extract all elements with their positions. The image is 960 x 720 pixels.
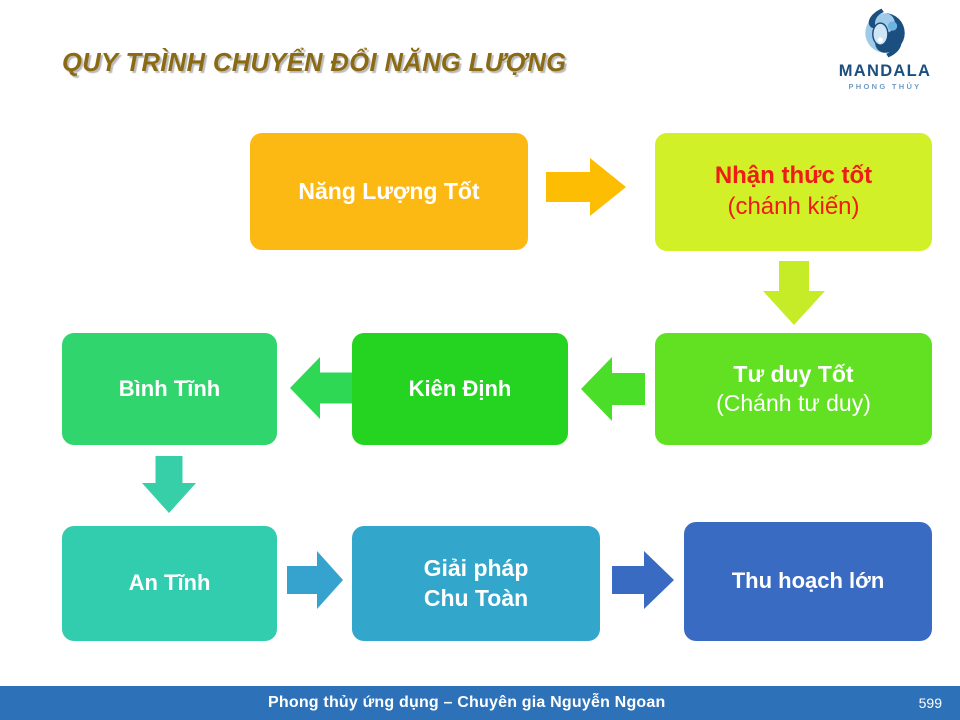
flow-node-tu-duy-tot[interactable]: Tư duy Tốt (Chánh tư duy) bbox=[655, 333, 932, 445]
flow-node-label: Năng Lượng Tốt bbox=[298, 177, 479, 206]
flow-node-label: An Tĩnh bbox=[129, 569, 211, 597]
slide-footer: Phong thủy ứng dụng – Chuyên gia Nguyễn … bbox=[0, 686, 960, 720]
arrow-shaft bbox=[156, 456, 183, 484]
flow-node-binh-tinh[interactable]: Bình Tĩnh bbox=[62, 333, 277, 445]
flow-node-sublabel: Chu Toàn bbox=[424, 584, 528, 613]
logo-tagline: PHONG THỦY bbox=[826, 83, 944, 91]
arrow-head bbox=[590, 158, 626, 216]
flow-node-sublabel: (chánh kiến) bbox=[727, 192, 859, 223]
arrow-shaft bbox=[546, 172, 591, 202]
arrow-left-kien-dinh-to-binh-tinh bbox=[290, 357, 352, 419]
page-title: QUY TRÌNH CHUYỂN ĐỔI NĂNG LƯỢNG bbox=[62, 49, 566, 78]
flow-node-thu-hoach-lon[interactable]: Thu hoạch lớn bbox=[684, 522, 932, 641]
logo: MANDALA PHONG THỦY bbox=[826, 4, 944, 90]
flow-node-kien-dinh[interactable]: Kiên Định bbox=[352, 333, 568, 445]
flow-node-nhan-thuc-tot[interactable]: Nhận thức tốt (chánh kiến) bbox=[655, 133, 932, 251]
arrow-left-tu-duy-to-kien-dinh bbox=[581, 357, 645, 421]
arrow-head bbox=[763, 291, 825, 325]
arrow-shaft bbox=[319, 373, 352, 404]
flow-node-label: Giải pháp bbox=[424, 554, 529, 583]
flow-node-label: Thu hoạch lớn bbox=[732, 567, 885, 595]
flow-node-label: Kiên Định bbox=[409, 375, 512, 403]
flow-node-an-tinh[interactable]: An Tĩnh bbox=[62, 526, 277, 641]
flow-node-label: Tư duy Tốt bbox=[733, 360, 853, 389]
arrow-right-giai-phap-to-thu-hoach bbox=[612, 551, 674, 609]
arrow-shaft bbox=[779, 261, 809, 292]
arrow-down-binh-tinh-to-an-tinh bbox=[142, 456, 196, 513]
flow-node-sublabel: (Chánh tư duy) bbox=[716, 389, 871, 418]
arrow-right-nang-luong-to-nhan-thuc bbox=[546, 158, 626, 216]
arrow-head bbox=[581, 357, 612, 421]
logo-wordmark: MANDALA bbox=[826, 63, 944, 80]
flow-node-label: Nhận thức tốt bbox=[715, 161, 872, 192]
arrow-head bbox=[644, 551, 674, 609]
flow-node-giai-phap-chu-toan[interactable]: Giải pháp Chu Toàn bbox=[352, 526, 600, 641]
arrow-head bbox=[142, 483, 196, 513]
arrow-shaft bbox=[287, 566, 318, 594]
flow-node-nang-luong-tot[interactable]: Năng Lượng Tốt bbox=[250, 133, 528, 250]
footer-credit: Phong thủy ứng dụng – Chuyên gia Nguyễn … bbox=[268, 694, 665, 712]
flow-node-label: Bình Tĩnh bbox=[119, 375, 220, 403]
arrow-head bbox=[290, 357, 320, 419]
arrow-shaft bbox=[611, 373, 645, 405]
slide-canvas: QUY TRÌNH CHUYỂN ĐỔI NĂNG LƯỢNG MANDALA … bbox=[0, 0, 960, 720]
arrow-shaft bbox=[612, 566, 645, 594]
arrow-head bbox=[317, 551, 343, 609]
slide-number: 599 bbox=[919, 695, 942, 711]
mandala-yin-yang-icon bbox=[856, 4, 914, 62]
arrow-right-an-tinh-to-giai-phap bbox=[287, 551, 343, 609]
arrow-down-nhan-thuc-to-tu-duy bbox=[763, 261, 825, 325]
